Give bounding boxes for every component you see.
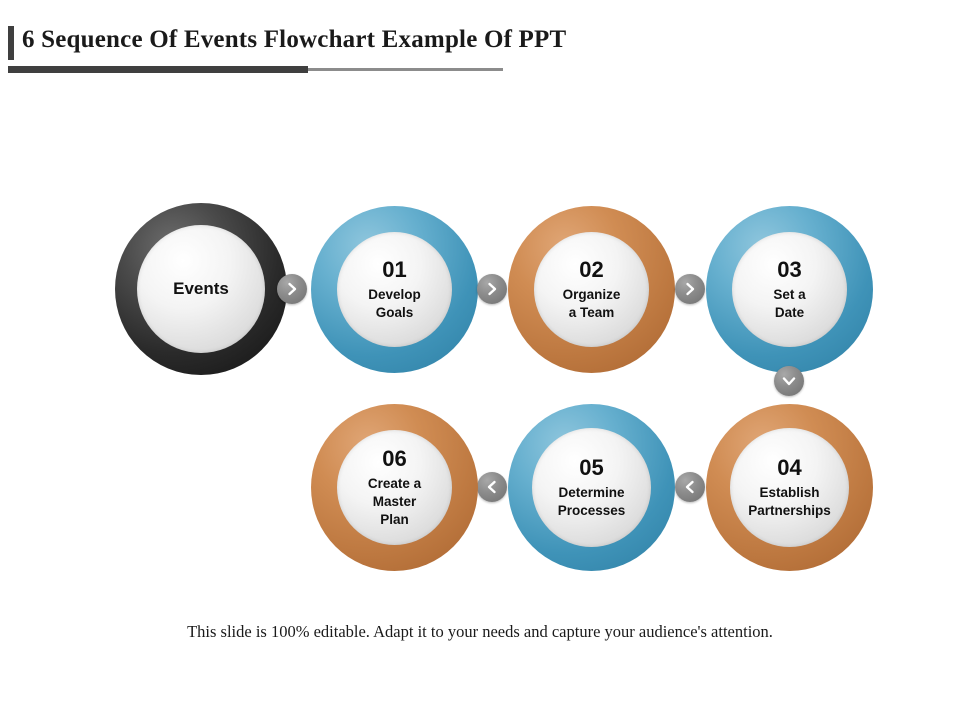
node-step-01-number: 01 bbox=[382, 258, 406, 282]
node-step-04-number: 04 bbox=[777, 456, 801, 480]
node-events-label: Events bbox=[167, 278, 235, 300]
node-step-03-inner: 03 Set a Date bbox=[732, 232, 847, 347]
arrow-right-icon-01-to-02 bbox=[477, 274, 507, 304]
node-step-02-number: 02 bbox=[579, 258, 603, 282]
flowchart-canvas: Events 01 Develop Goals 02 Organize a Te… bbox=[0, 0, 960, 720]
node-step-06[interactable]: 06 Create a Master Plan bbox=[311, 404, 478, 571]
node-step-02-label: Organize a Team bbox=[557, 286, 627, 322]
node-step-06-label: Create a Master Plan bbox=[362, 475, 427, 528]
node-step-05-label: Determine Processes bbox=[552, 484, 632, 520]
node-step-04-label: Establish Partnerships bbox=[742, 484, 837, 520]
node-step-03[interactable]: 03 Set a Date bbox=[706, 206, 873, 373]
node-step-03-label: Set a Date bbox=[767, 286, 811, 322]
footer-note: This slide is 100% editable. Adapt it to… bbox=[0, 622, 960, 642]
node-step-05-number: 05 bbox=[579, 456, 603, 480]
node-step-05-inner: 05 Determine Processes bbox=[532, 428, 651, 547]
node-step-02[interactable]: 02 Organize a Team bbox=[508, 206, 675, 373]
node-step-01[interactable]: 01 Develop Goals bbox=[311, 206, 478, 373]
node-events[interactable]: Events bbox=[115, 203, 287, 375]
arrow-right-icon-02-to-03 bbox=[675, 274, 705, 304]
node-step-01-inner: 01 Develop Goals bbox=[337, 232, 452, 347]
node-events-inner: Events bbox=[137, 225, 265, 353]
node-step-06-number: 06 bbox=[382, 447, 406, 471]
arrow-down-icon-03-to-04 bbox=[774, 366, 804, 396]
node-step-02-inner: 02 Organize a Team bbox=[534, 232, 649, 347]
arrow-left-icon-04-to-05 bbox=[675, 472, 705, 502]
node-step-01-label: Develop Goals bbox=[362, 286, 427, 322]
node-step-03-number: 03 bbox=[777, 258, 801, 282]
arrow-right-icon-start-to-01 bbox=[277, 274, 307, 304]
node-step-04-inner: 04 Establish Partnerships bbox=[730, 428, 849, 547]
node-step-06-inner: 06 Create a Master Plan bbox=[337, 430, 452, 545]
arrow-left-icon-05-to-06 bbox=[477, 472, 507, 502]
node-step-04[interactable]: 04 Establish Partnerships bbox=[706, 404, 873, 571]
node-step-05[interactable]: 05 Determine Processes bbox=[508, 404, 675, 571]
